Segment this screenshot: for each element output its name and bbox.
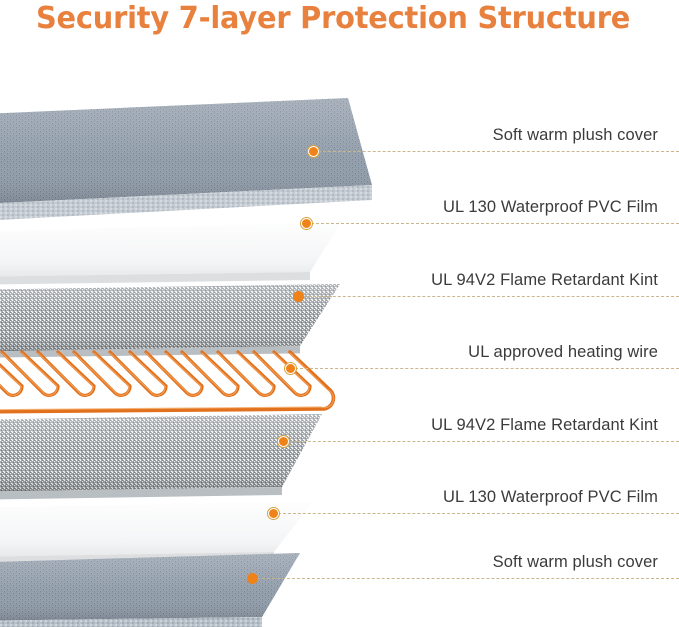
callout-dot-7[interactable] — [247, 573, 258, 584]
callout-dash-line-6 — [273, 513, 679, 514]
callout-label-6: UL 130 Waterproof PVC Film — [443, 488, 658, 507]
callout-dot-1[interactable] — [308, 146, 319, 157]
callout-label-7: Soft warm plush cover — [493, 553, 658, 572]
callout-dot-3[interactable] — [293, 291, 304, 302]
layer-5-flame-retardant-knit-shape — [0, 414, 322, 500]
layer-7-plush-shape — [0, 553, 300, 627]
exploded-layer-illustration — [0, 0, 679, 627]
callout-dash-line-4 — [290, 368, 679, 369]
layer-structure-infographic: Security 7-layer Protection Structure — [0, 0, 679, 627]
callout-dot-5[interactable] — [278, 436, 289, 447]
callout-dot-6[interactable] — [268, 508, 279, 519]
callout-dash-line-2 — [306, 223, 679, 224]
callout-dot-2[interactable] — [301, 218, 312, 229]
callout-label-3: UL 94V2 Flame Retardant Kint — [431, 271, 658, 290]
layer-2-pvc-film-shape — [0, 216, 345, 285]
callout-label-1: Soft warm plush cover — [493, 126, 658, 145]
callout-dash-line-3 — [298, 296, 679, 297]
callout-label-4: UL approved heating wire — [468, 343, 658, 362]
callout-dash-line-1 — [313, 151, 679, 152]
layer-3-flame-retardant-knit-shape — [0, 284, 340, 360]
callout-dot-4[interactable] — [285, 363, 296, 374]
layer-1-plush-shape — [0, 98, 372, 222]
callout-dash-line-5 — [283, 441, 679, 442]
layer-4-heating-wire-shape — [0, 352, 334, 418]
callout-label-5: UL 94V2 Flame Retardant Kint — [431, 416, 658, 435]
callout-label-2: UL 130 Waterproof PVC Film — [443, 198, 658, 217]
callout-dash-line-7 — [252, 578, 679, 579]
